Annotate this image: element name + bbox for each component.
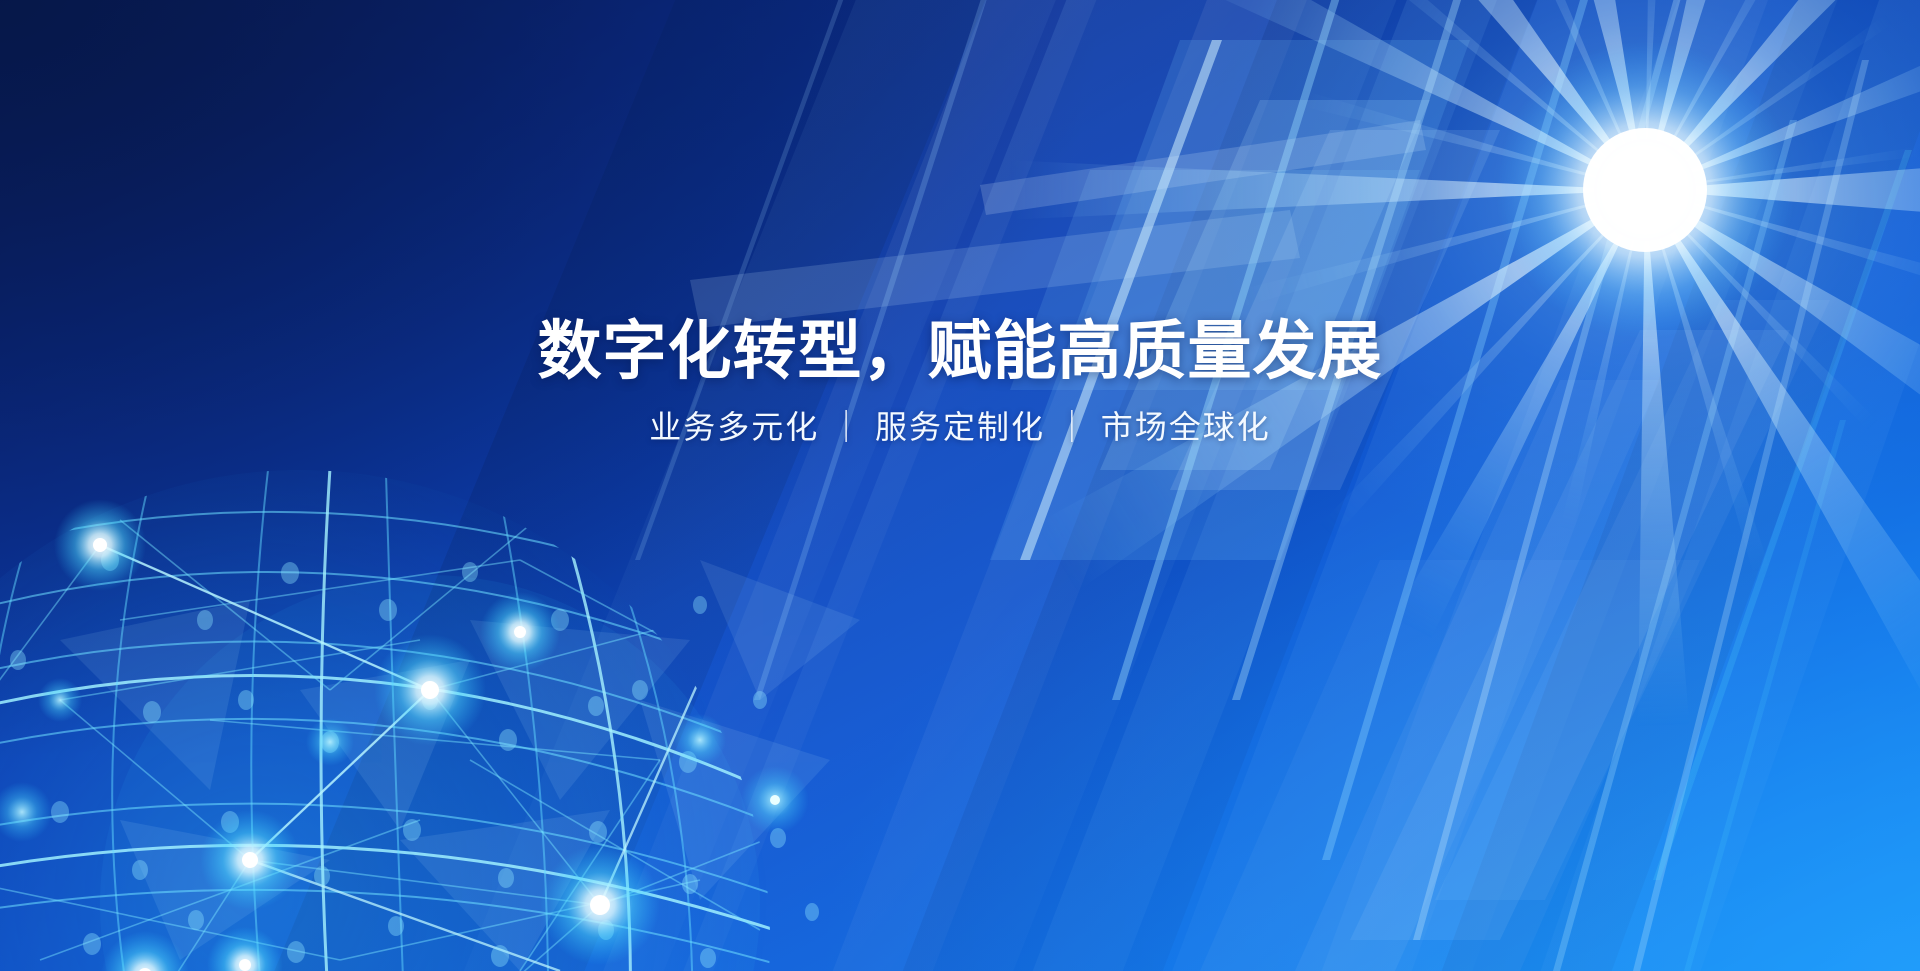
network-globe: [0, 0, 1920, 971]
banner-root: 数字化转型，赋能高质量发展 业务多元化 ｜ 服务定制化 ｜ 市场全球化: [0, 0, 1920, 971]
